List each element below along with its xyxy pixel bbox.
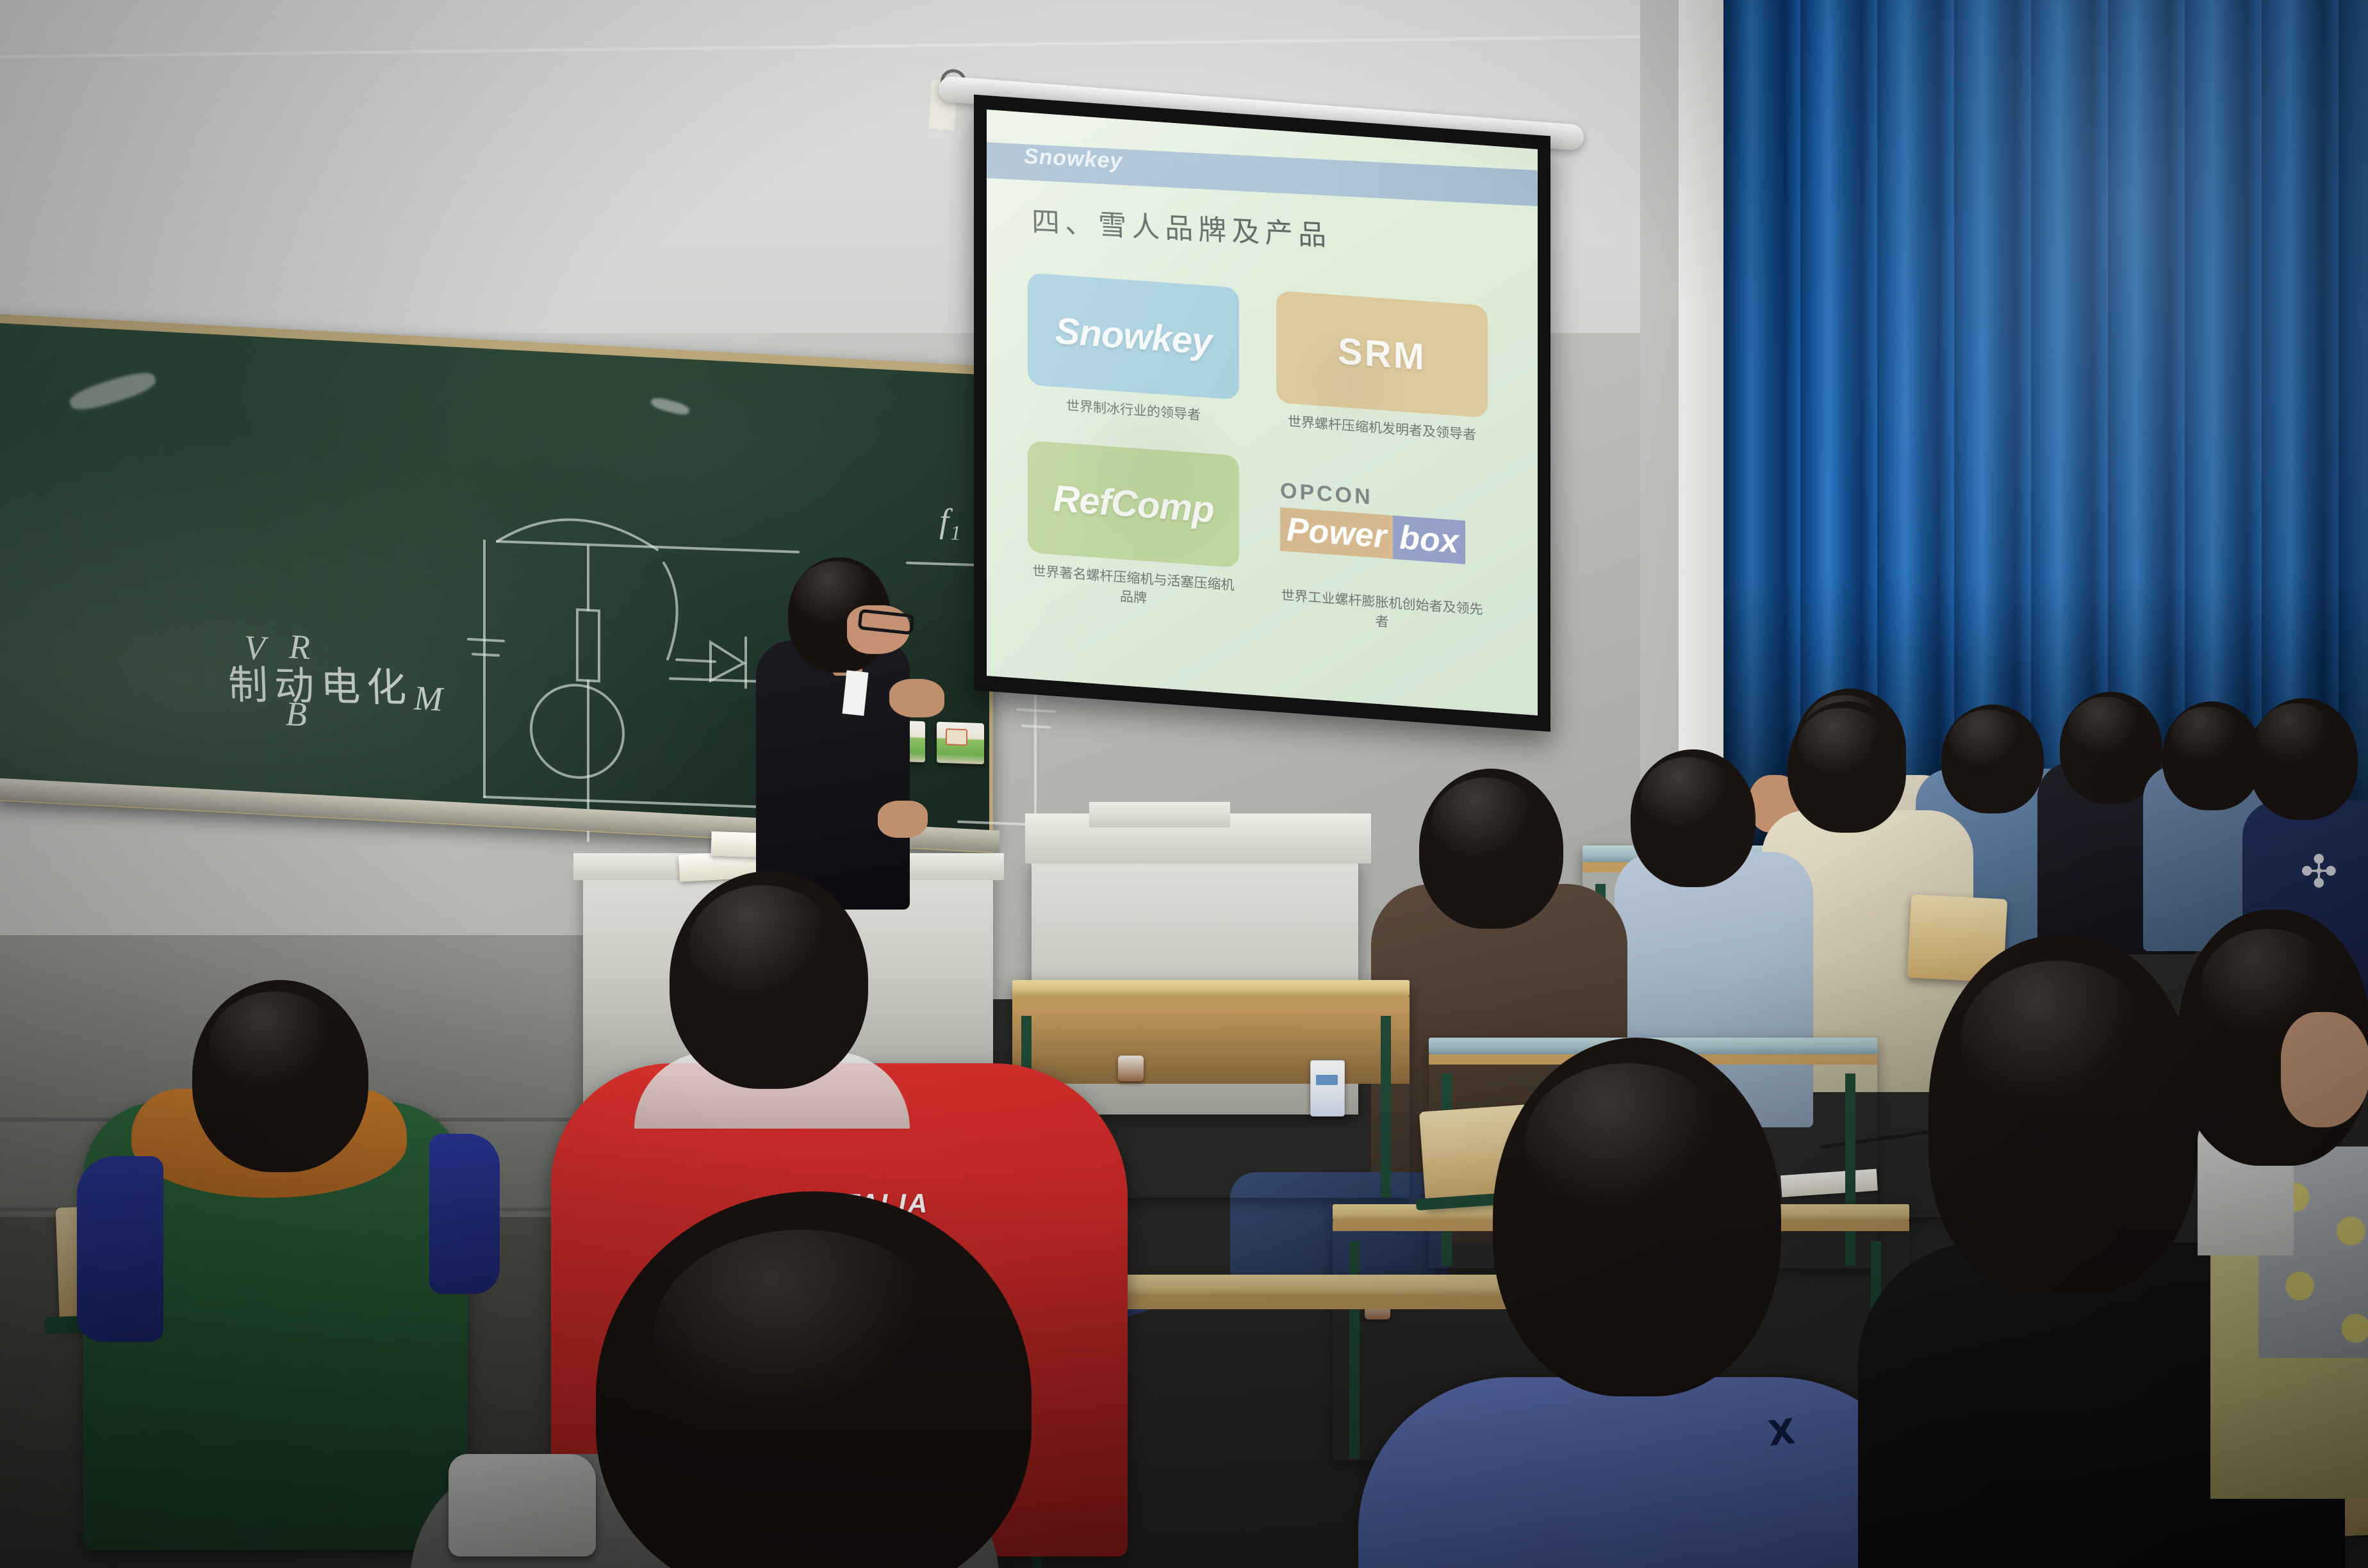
slide-texture <box>987 110 1538 715</box>
hair-highlight <box>1432 778 1540 867</box>
hair-highlight <box>1798 708 1886 782</box>
student-face <box>2281 1012 2368 1127</box>
paper-cup[interactable] <box>1118 1056 1144 1081</box>
hair-highlight <box>2257 703 2337 771</box>
jacket-logo-x: X <box>1766 1411 1797 1454</box>
student-head <box>1493 1038 1781 1396</box>
desk-cubby <box>1012 1007 1410 1084</box>
student-head <box>2162 701 2262 810</box>
jacket-body <box>1358 1377 1935 1568</box>
vest-sleeve-left <box>77 1156 163 1342</box>
presenter-torso <box>756 641 910 910</box>
hair-highlight <box>1961 961 2153 1121</box>
hair-highlight <box>209 992 340 1100</box>
hair-highlight <box>689 885 836 1007</box>
student-head <box>1419 769 1563 929</box>
overhead-projector <box>1089 802 1230 828</box>
student-head <box>1928 935 2198 1294</box>
student-head <box>1788 701 1906 833</box>
presenter-hand-upper <box>889 679 944 717</box>
presenter-collar <box>843 670 869 715</box>
hair-highlight <box>2068 697 2144 761</box>
vest-sleeve-right <box>429 1134 500 1294</box>
student-head <box>1941 705 2044 813</box>
desk-edge <box>1012 997 1410 1007</box>
plastic-bag <box>448 1454 596 1556</box>
projector-screen-surface: Snowkey 四、雪人品牌及产品 Snowkey 世界制冰行业的领导者 SRM… <box>987 110 1538 715</box>
desk-leg <box>1381 1016 1391 1198</box>
projector-screen: Snowkey 四、雪人品牌及产品 Snowkey 世界制冰行业的领导者 SRM… <box>974 95 1550 732</box>
presenter-hand-lower <box>878 801 928 838</box>
hair-highlight <box>1641 757 1734 835</box>
student-head <box>192 980 368 1172</box>
student-head <box>2249 698 2358 820</box>
student-head <box>670 871 868 1089</box>
hair-highlight <box>2170 706 2244 768</box>
student-head <box>1631 749 1755 887</box>
classroom-photo: 制动电化 <box>0 0 2368 1568</box>
presentation-slide: Snowkey 四、雪人品牌及产品 Snowkey 世界制冰行业的领导者 SRM… <box>987 110 1538 715</box>
hair-highlight <box>654 1230 948 1441</box>
chalk-box-2 <box>937 722 984 765</box>
desk-surface <box>1012 980 1410 997</box>
hair-highlight <box>1949 710 2026 774</box>
hair-highlight <box>1525 1063 1730 1223</box>
milk-carton[interactable] <box>1310 1060 1345 1116</box>
